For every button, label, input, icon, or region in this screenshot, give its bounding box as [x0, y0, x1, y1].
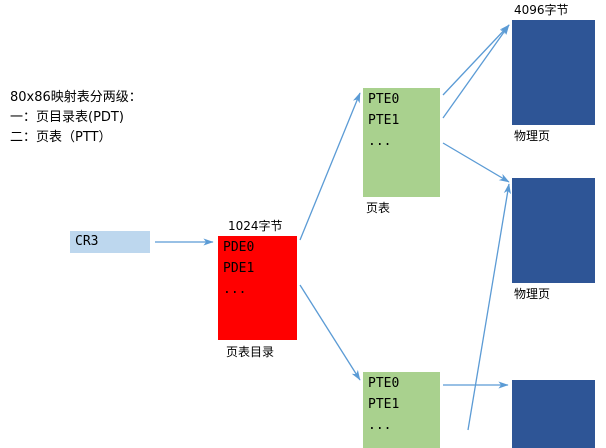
legend-note: 80x86映射表分两级： 一：页目录表(PDT) 二：页表（PTT）: [10, 88, 260, 148]
arrow-page-directory-to-page-table-2: [300, 285, 360, 380]
cr3-label: CR3: [70, 231, 150, 251]
physical-page-2-box[interactable]: [512, 178, 595, 283]
cr3-register-box[interactable]: CR3: [70, 231, 150, 253]
page-table-1-entry-0: PTE0: [363, 88, 440, 109]
legend-note-line-3: 二：页表（PTT）: [10, 128, 260, 148]
page-table-1-ellipsis: ...: [363, 130, 440, 151]
page-table-1-entry-1: PTE1: [363, 109, 440, 130]
legend-note-line-2: 一：页目录表(PDT): [10, 108, 260, 128]
page-directory-caption: 页表目录: [226, 344, 274, 360]
physical-page-1-size-label: 4096字节: [514, 2, 569, 18]
page-directory-size-label: 1024字节: [228, 218, 283, 234]
physical-page-2-caption: 物理页: [514, 286, 550, 302]
diagram-canvas: 80x86映射表分两级： 一：页目录表(PDT) 二：页表（PTT） CR3 1…: [0, 0, 606, 448]
page-directory-entry-1: PDE1: [218, 257, 297, 278]
page-directory-box[interactable]: PDE0 PDE1 ...: [218, 236, 297, 340]
page-table-2-entry-0: PTE0: [363, 372, 440, 393]
arrow-page-table-1-to-physical-page-1-b: [443, 25, 509, 95]
physical-page-3-box[interactable]: [512, 380, 595, 448]
page-directory-entry-0: PDE0: [218, 236, 297, 257]
arrow-page-table-1-to-physical-page-1-a: [443, 25, 509, 118]
arrow-page-table-1-to-physical-page-2: [443, 143, 509, 182]
arrow-page-directory-to-page-table-1: [300, 93, 360, 240]
physical-page-1-box[interactable]: [512, 20, 595, 125]
page-table-2-box[interactable]: PTE0 PTE1 ...: [363, 372, 440, 448]
page-table-2-ellipsis: ...: [363, 414, 440, 435]
page-table-1-box[interactable]: PTE0 PTE1 ...: [363, 88, 440, 197]
page-table-2-entry-1: PTE1: [363, 393, 440, 414]
arrow-page-table-2-to-physical-page-2: [468, 184, 509, 430]
legend-note-line-1: 80x86映射表分两级：: [10, 88, 260, 108]
page-table-1-caption: 页表: [366, 200, 390, 216]
page-directory-ellipsis: ...: [218, 278, 297, 299]
physical-page-1-caption: 物理页: [514, 128, 550, 144]
